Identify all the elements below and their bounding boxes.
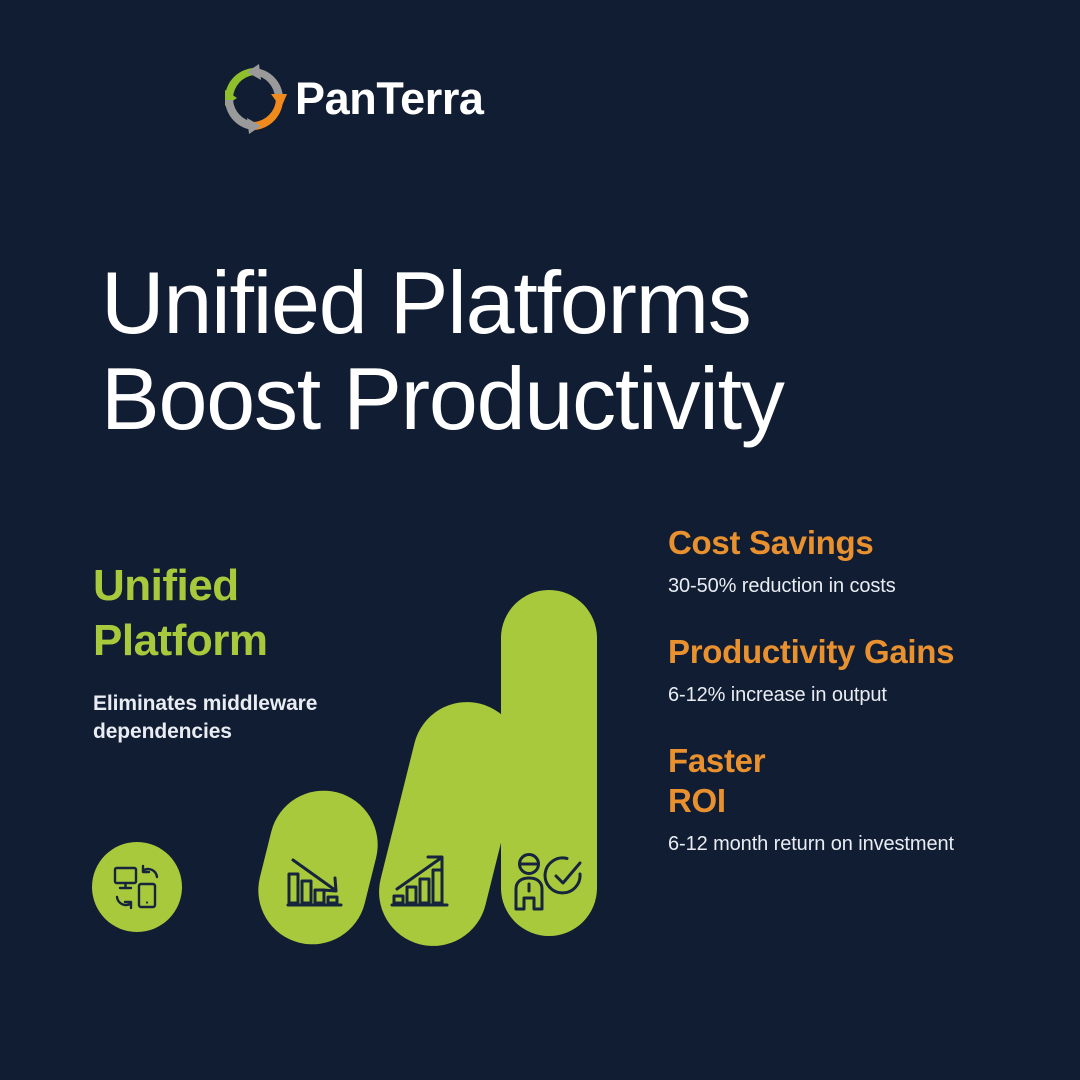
- metric-cost-savings: Cost Savings 30-50% reduction in costs: [668, 523, 1028, 600]
- unified-platform-subtitle: Eliminates middleware dependencies: [93, 690, 368, 746]
- footer-watermark: · · · · · · ··· ·· ·· · ·: [38, 957, 189, 972]
- brand-logo[interactable]: PanTerra: [213, 55, 513, 145]
- person-check-icon: [512, 852, 584, 917]
- metrics-list: Cost Savings 30-50% reduction in costs P…: [668, 523, 1028, 858]
- metric-cost-savings-title-line-1: Cost Savings: [668, 523, 1028, 563]
- logo-wordmark: PanTerra: [295, 73, 484, 125]
- devices-sync-badge: [92, 842, 182, 932]
- unified-platform-heading-line-2: Platform: [93, 613, 393, 668]
- bar-chart-down-arrow-icon: [285, 852, 345, 915]
- page-title-line-2: Boost Productivity: [101, 351, 961, 447]
- metric-productivity-gains-title-line-1: Productivity Gains: [668, 632, 1028, 672]
- metric-cost-savings-title: Cost Savings: [668, 523, 1028, 563]
- metric-productivity-gains: Productivity Gains 6-12% increase in out…: [668, 632, 1028, 709]
- metric-cost-savings-description: 30-50% reduction in costs: [668, 573, 968, 600]
- metric-productivity-gains-title: Productivity Gains: [668, 632, 1028, 672]
- infographic-canvas: PanTerra Unified Platforms Boost Product…: [0, 0, 1080, 1080]
- page-title: Unified Platforms Boost Productivity: [101, 255, 961, 447]
- metric-faster-roi: Faster ROI 6-12 month return on investme…: [668, 741, 1028, 858]
- metric-faster-roi-title: Faster ROI: [668, 741, 1028, 821]
- unified-platform-block: Unified Platform Eliminates middleware d…: [93, 558, 393, 746]
- metric-faster-roi-title-line-2: ROI: [668, 781, 1028, 821]
- unified-platform-heading-line-1: Unified: [93, 558, 393, 613]
- panterra-cycle-icon: [213, 58, 295, 140]
- page-title-line-1: Unified Platforms: [101, 255, 961, 351]
- metric-faster-roi-description: 6-12 month return on investment: [668, 831, 968, 858]
- unified-platform-heading: Unified Platform: [93, 558, 393, 668]
- bar-chart-up-arrow-icon: [389, 848, 451, 915]
- metric-productivity-gains-description: 6-12% increase in output: [668, 682, 968, 709]
- metric-faster-roi-title-line-1: Faster: [668, 741, 1028, 781]
